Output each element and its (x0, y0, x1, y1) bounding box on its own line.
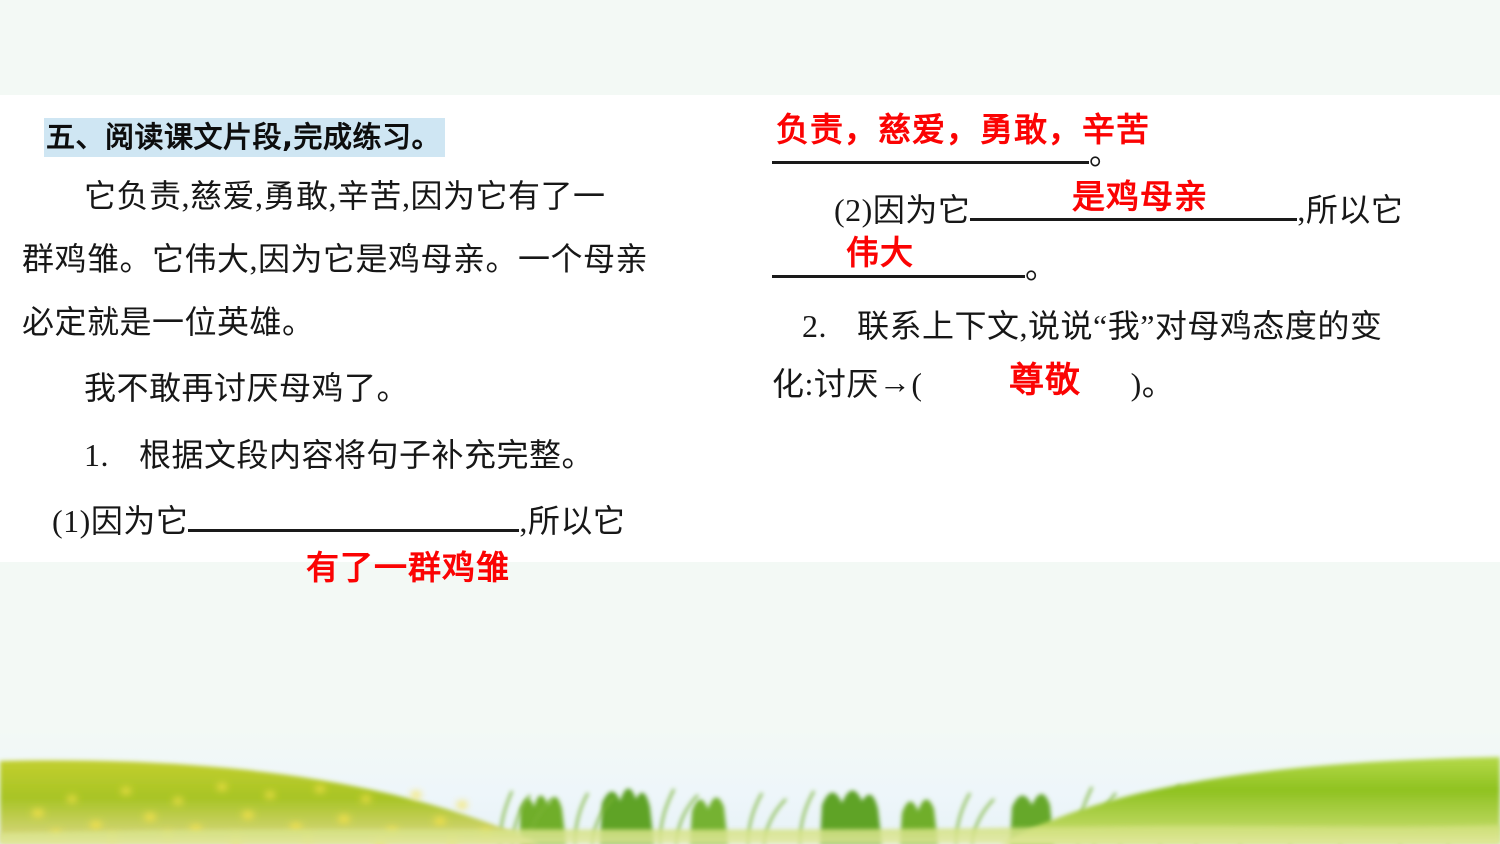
question-2-number: 2. (802, 308, 827, 344)
question-1-prompt-text: 根据文段内容将句子补充完整。 (139, 437, 594, 473)
q1-item2-answer-2: 伟大 (846, 235, 914, 271)
q2-period: 。 (1142, 366, 1175, 402)
question-2-prompt: 2.联系上下文,说说“我”对母鸡态度的变 (772, 295, 1484, 358)
q1-item1-label: (1)因为它 (52, 503, 188, 539)
q2-answer: 尊敬 (1009, 363, 1081, 399)
q1-item1-answer: 有了一群鸡雏 (306, 550, 510, 586)
q1-item2-tail: ,所以它 (1297, 192, 1403, 228)
meadow-decoration (0, 729, 1500, 844)
question-2-prefix: 化:讨厌 (772, 366, 879, 402)
q1-item2-period: 。 (1025, 249, 1058, 285)
meadow-svg (0, 729, 1500, 844)
worksheet-panel: 五、阅读课文片段,完成练习。 它负责,慈爱,勇敢,辛苦,因为它有了一 群鸡雏。它… (0, 95, 1500, 562)
slide-root: 五、阅读课文片段,完成练习。 它负责,慈爱,勇敢,辛苦,因为它有了一 群鸡雏。它… (0, 0, 1500, 844)
arrow-right-icon: → (879, 351, 912, 414)
question-2-answer-line: 化:讨厌→()。 (772, 353, 1484, 416)
q2-paren-close: ) (1131, 366, 1142, 402)
q1-item1-answer-2: 负责，慈爱，勇敢，辛苦 (776, 112, 1150, 148)
passage-text-3: 必定就是一位英雄。 (22, 304, 315, 340)
question-1-prompt: 1.根据文段内容将句子补充完整。 (22, 424, 748, 487)
passage-text-1: 它负责,慈爱,勇敢,辛苦,因为它有了一 (84, 178, 606, 214)
passage-line-4: 我不敢再讨厌母鸡了。 (22, 357, 748, 420)
q1-item2-answer: 是鸡母亲 (1072, 179, 1208, 215)
q1-item1-blank[interactable] (188, 489, 519, 532)
q1-item2-label: (2)因为它 (834, 192, 970, 228)
question-2-prompt-text: 联系上下文,说说“我”对母鸡态度的变 (857, 308, 1382, 344)
passage-line-2: 群鸡雏。它伟大,因为它是鸡母亲。一个母亲 (22, 228, 748, 291)
passage-line-1: 它负责,慈爱,勇敢,辛苦,因为它有了一 (22, 165, 748, 228)
q2-paren-open: ( (911, 366, 922, 402)
passage-text-4: 我不敢再讨厌母鸡了。 (84, 370, 409, 406)
passage-line-3: 必定就是一位英雄。 (22, 291, 748, 354)
section-heading: 五、阅读课文片段,完成练习。 (44, 118, 445, 157)
q1-item1-tail: ,所以它 (519, 503, 625, 539)
question-1-item-1: (1)因为它,所以它 (22, 489, 748, 553)
passage-text-2: 群鸡雏。它伟大,因为它是鸡母亲。一个母亲 (22, 241, 648, 277)
question-1-number: 1. (84, 437, 109, 473)
